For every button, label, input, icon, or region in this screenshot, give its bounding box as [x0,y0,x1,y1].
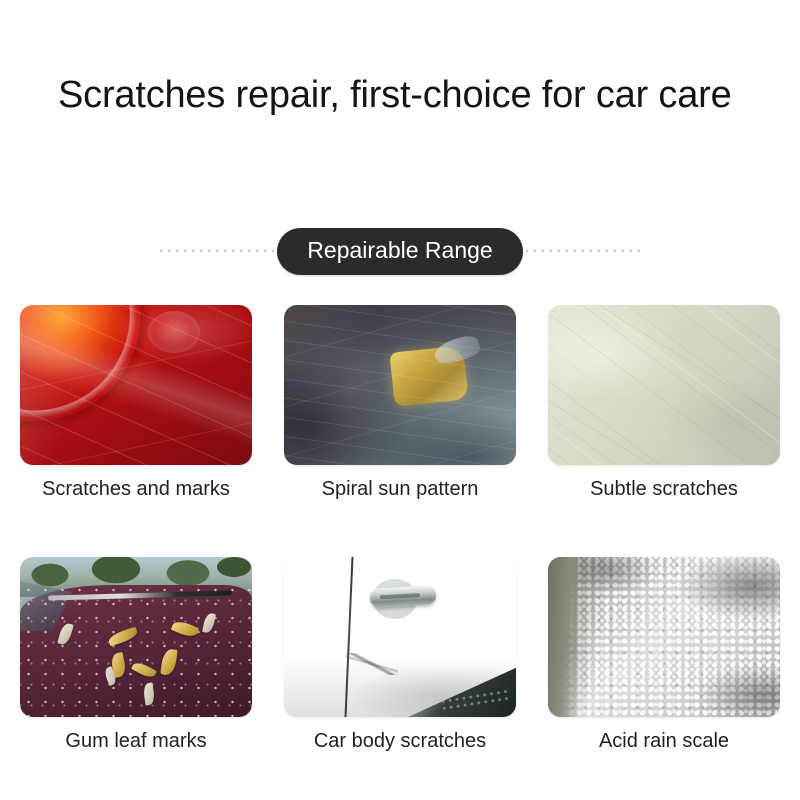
card-caption: Acid rain scale [548,729,780,753]
card-caption: Gum leaf marks [20,729,252,753]
dark-patches-layer [548,557,780,717]
door-handle-shape [370,585,437,607]
repairable-range-badge: Repairable Range [277,228,522,275]
repairable-range-grid: Scratches and marks Spiral sun pattern S… [20,305,780,753]
maroon-hood-leaves-photo [20,557,252,717]
card-caption: Subtle scratches [548,477,780,501]
range-card: Subtle scratches [548,305,780,501]
page-title: Scratches repair, first-choice for car c… [58,74,732,117]
red-fender-scratches-photo [20,305,252,465]
range-card: Scratches and marks [20,305,252,501]
card-caption: Spiral sun pattern [284,477,516,501]
faint-scratch-lines-layer [548,305,780,465]
range-card: Spiral sun pattern [284,305,516,501]
range-card: Car body scratches [284,557,516,753]
scratch-mark-shape [346,653,398,675]
dotted-rule-right [525,249,641,253]
badge-reflection-shape [148,311,200,353]
range-card: Gum leaf marks [20,557,252,753]
swirl-marks-layer [284,305,516,465]
scratch-lines-layer [20,305,252,465]
repairable-range-header: Repairable Range [0,224,800,278]
pale-surface-faint-scratches-photo [548,305,780,465]
card-caption: Scratches and marks [20,477,252,501]
acid-rain-water-spots-photo [548,557,780,717]
dark-paint-swirl-marks-photo [284,305,516,465]
panel-edge-shape [548,557,578,717]
water-specks-layer [20,583,252,717]
range-card: Acid rain scale [548,557,780,753]
silver-car-door-handle-photo [284,557,516,717]
dotted-rule-left [159,249,275,253]
card-caption: Car body scratches [284,729,516,753]
